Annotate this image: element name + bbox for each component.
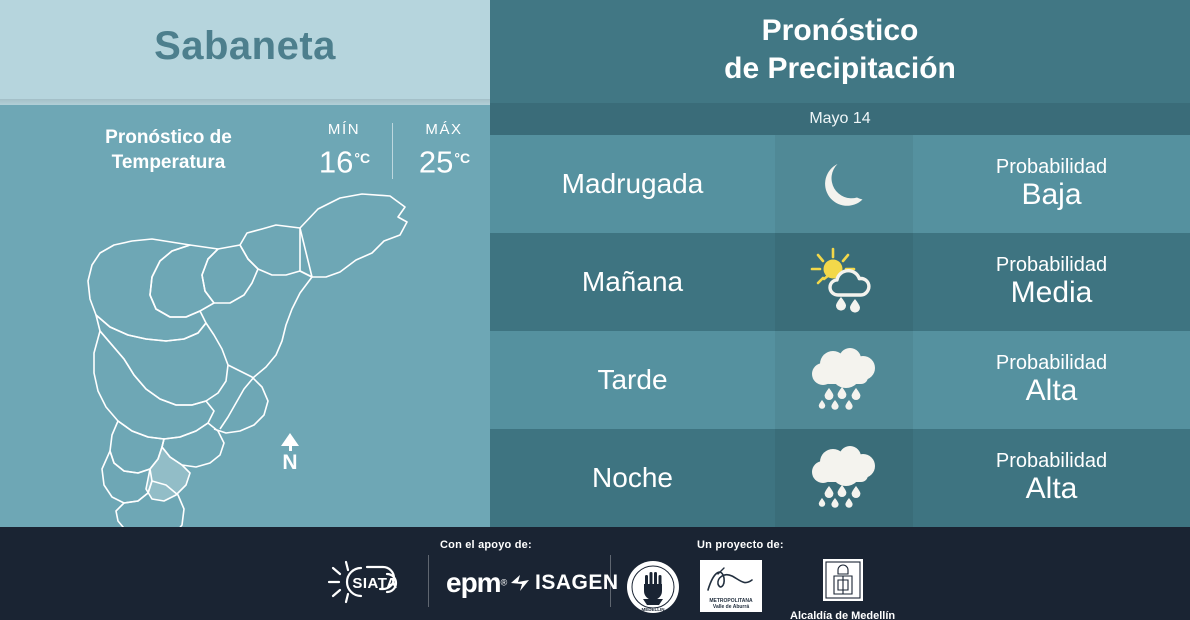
rain-cloud-icon (775, 429, 913, 527)
probability-label: Probabilidad (913, 450, 1190, 472)
forecast-date: Mayo 14 (490, 103, 1190, 135)
svg-text:MEDELLIN: MEDELLIN (642, 607, 665, 612)
probability-cell: Probabilidad Baja (913, 156, 1190, 212)
compass-north-icon: N (277, 433, 303, 473)
map-region-barbosa (300, 194, 407, 277)
svg-text:SIATA: SIATA (352, 575, 397, 592)
medellin-seal-icon[interactable]: MEDELLIN (625, 559, 681, 620)
footer: Con el apoyo de: Un proyecto de: SIATA (0, 527, 1190, 620)
page-title: Sabaneta (0, 24, 490, 69)
area-signature-icon (700, 560, 762, 598)
forecast-row-noche[interactable]: Noche (490, 429, 1190, 527)
alcaldia-label: Alcaldía de Medellín (790, 610, 895, 620)
isagen-logo[interactable]: ISAGEN (509, 571, 619, 595)
probability-level: Baja (913, 178, 1190, 212)
probability-cell: Probabilidad Media (913, 254, 1190, 310)
valle-de-aburra-map (0, 165, 490, 527)
precipitation-title-line1: Pronóstico (490, 12, 1190, 50)
siata-logo[interactable]: SIATA (327, 559, 427, 605)
probability-level: Alta (913, 374, 1190, 408)
epm-registered-mark: ® (501, 578, 508, 588)
forecast-row-manana[interactable]: Mañana (490, 233, 1190, 331)
forecast-row-madrugada[interactable]: Madrugada Probabilidad Baja (490, 135, 1190, 233)
footer-divider-1 (428, 555, 429, 607)
alcaldia-logo[interactable]: Alcaldía de Medellín (790, 557, 895, 620)
project-caption: Un proyecto de: (697, 539, 784, 551)
probability-label: Probabilidad (913, 156, 1190, 178)
rain-cloud-icon (775, 331, 913, 429)
map-region-sabaneta-highlight (146, 447, 190, 501)
map-region-copacabana (202, 245, 258, 303)
moon-glyph (813, 153, 875, 215)
probability-level: Media (913, 276, 1190, 310)
max-unit: °C (454, 150, 470, 166)
compass-label: N (277, 452, 303, 473)
temperature-body: Pronóstico de Temperatura MÍN 16°C MÁX 2… (0, 105, 490, 527)
probability-cell: Probabilidad Alta (913, 450, 1190, 506)
medellin-seal-glyph: MEDELLIN (625, 559, 681, 615)
map-region-medellin-upper (96, 315, 228, 405)
precipitation-panel: Pronóstico de Precipitación Mayo 14 Madr… (490, 0, 1190, 527)
area-metropolitana-logo[interactable]: METROPOLITANA Valle de Aburrá (700, 560, 762, 612)
date-band: Mayo 14 (490, 103, 1190, 135)
period-label: Mañana (490, 266, 775, 298)
map-region-bello (88, 239, 206, 341)
precipitation-header: Pronóstico de Precipitación (490, 0, 1190, 103)
map-region-girardota (240, 225, 312, 277)
map-region-bello-north (150, 245, 218, 317)
probability-cell: Probabilidad Alta (913, 352, 1190, 408)
infographic-root: Sabaneta Pronóstico de Temperatura MÍN 1… (0, 0, 1190, 620)
sun-rain-cloud-icon (775, 233, 913, 331)
isagen-wordmark: ISAGEN (535, 571, 619, 595)
forecast-rows: Madrugada Probabilidad Baja Mañana (490, 135, 1190, 527)
precipitation-title-line2: de Precipitación (490, 50, 1190, 88)
isagen-mark-icon (509, 573, 531, 593)
max-label: MÁX (402, 121, 486, 138)
period-label: Tarde (490, 364, 775, 396)
min-unit: °C (354, 150, 370, 166)
forecast-row-tarde[interactable]: Tarde (490, 331, 1190, 429)
moon-icon (775, 135, 913, 233)
map-east-lobe (214, 365, 268, 433)
map-region-medellin-lower (94, 331, 214, 439)
epm-wordmark: epm (446, 567, 501, 598)
min-label: MÍN (302, 121, 386, 138)
map-svg (0, 165, 490, 527)
area-logo-box: METROPOLITANA Valle de Aburrá (700, 560, 762, 612)
probability-label: Probabilidad (913, 254, 1190, 276)
epm-logo[interactable]: epm® (446, 567, 507, 599)
area-sub-text: METROPOLITANA Valle de Aburrá (700, 599, 762, 610)
area-line2: Valle de Aburrá (700, 605, 762, 611)
probability-label: Probabilidad (913, 352, 1190, 374)
footer-divider-2 (610, 555, 611, 607)
alcaldia-shield-icon (821, 557, 865, 603)
probability-level: Alta (913, 472, 1190, 506)
precipitation-title: Pronóstico de Precipitación (490, 12, 1190, 88)
siata-logo-glyph: SIATA (327, 559, 427, 605)
rain-cloud-glyph (806, 344, 882, 416)
compass-arrow (281, 433, 299, 446)
temperature-panel: Sabaneta Pronóstico de Temperatura MÍN 1… (0, 0, 490, 527)
support-caption: Con el apoyo de: (440, 539, 532, 551)
period-label: Madrugada (490, 168, 775, 200)
period-label: Noche (490, 462, 775, 494)
sun-rain-cloud-glyph (808, 247, 880, 317)
rain-cloud-glyph (806, 442, 882, 514)
temperature-title-line1: Pronóstico de (76, 125, 261, 150)
